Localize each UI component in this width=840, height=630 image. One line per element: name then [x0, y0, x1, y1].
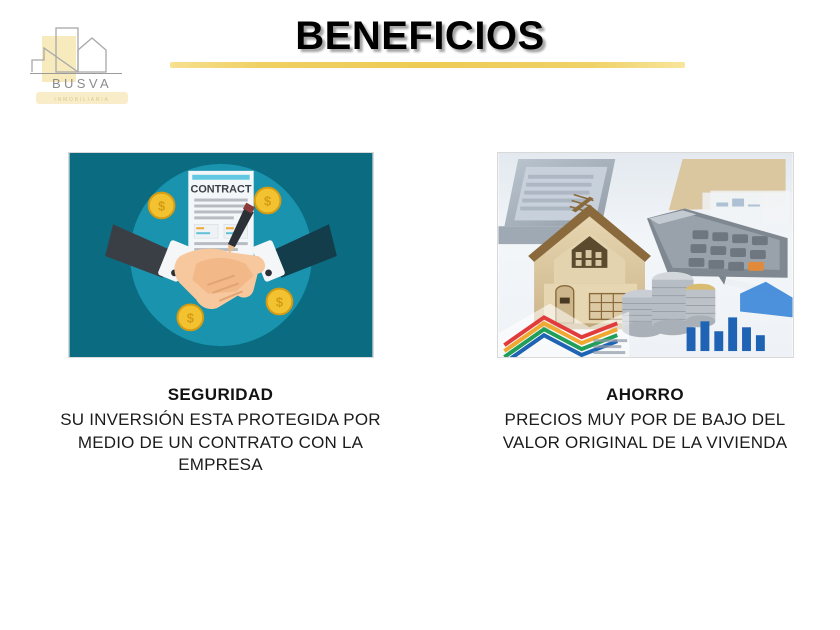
- svg-text:$: $: [275, 294, 282, 309]
- background-chart-papers: [710, 191, 789, 225]
- benefit-card-ahorro: AHORRO PRECIOS MUY POR DE BAJO DEL VALOR…: [445, 152, 840, 454]
- slide-root: BUSVA INMOBILIARIA BENEFICIOS CONTRACT: [0, 0, 840, 630]
- seguridad-body-line-2: MEDIO DE UN CONTRATO CON LA: [38, 432, 403, 454]
- svg-text:$: $: [263, 193, 270, 208]
- logo-tagline-text: INMOBILIARIA: [54, 97, 109, 103]
- seguridad-heading: SEGURIDAD: [38, 384, 403, 406]
- seguridad-caption: SEGURIDAD SU INVERSIÓN ESTA PROTEGIDA PO…: [38, 384, 403, 477]
- ahorro-heading: AHORRO: [445, 384, 840, 406]
- svg-text:$: $: [158, 198, 165, 213]
- title-underline-rule: [170, 62, 685, 68]
- seguridad-body-line-1: SU INVERSIÓN ESTA PROTEGIDA POR: [38, 409, 403, 431]
- logo-brand-text: BUSVA: [52, 76, 112, 91]
- svg-text:$: $: [186, 310, 193, 325]
- seguridad-body-line-3: EMPRESA: [38, 454, 403, 476]
- ahorro-body-line-2: VALOR ORIGINAL DE LA VIVIENDA: [445, 432, 840, 454]
- ahorro-caption: AHORRO PRECIOS MUY POR DE BAJO DEL VALOR…: [445, 384, 840, 454]
- ahorro-body-line-1: PRECIOS MUY POR DE BAJO DEL: [445, 409, 840, 431]
- slide-title: BENEFICIOS: [0, 14, 840, 59]
- svg-text:CONTRACT: CONTRACT: [190, 184, 251, 196]
- benefit-card-seguridad: CONTRACT: [38, 152, 403, 477]
- seguridad-image: CONTRACT: [68, 152, 374, 358]
- ahorro-image: [497, 152, 794, 358]
